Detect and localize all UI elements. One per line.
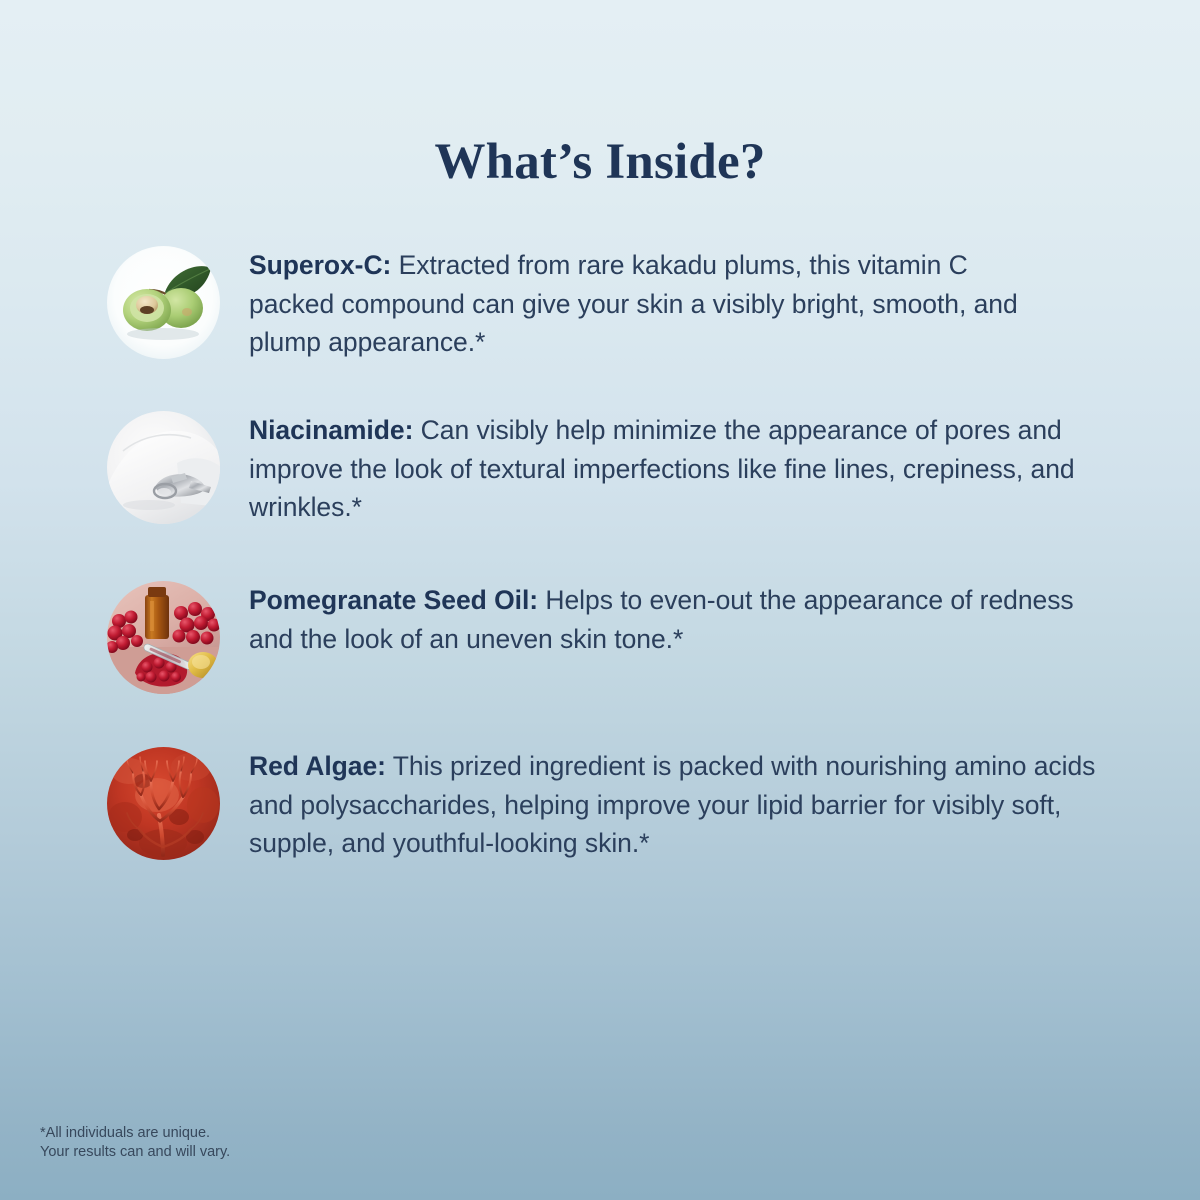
ingredient-text: Niacinamide: Can visibly help minimize t… bbox=[249, 411, 1077, 527]
kakadu-plum-photo bbox=[107, 246, 220, 359]
pomegranate-seed-oil-photo bbox=[107, 581, 220, 694]
ingredient-name: Pomegranate Seed Oil: bbox=[249, 585, 538, 615]
ingredient-text: Red Algae: This prized ingredient is pac… bbox=[249, 747, 1101, 863]
ingredient-text: Superox-C: Extracted from rare kakadu pl… bbox=[249, 246, 1039, 362]
ingredient-text: Pomegranate Seed Oil: Helps to even-out … bbox=[249, 581, 1081, 658]
whats-inside-infographic: What’s Inside? bbox=[0, 0, 1200, 1200]
ingredient-name: Niacinamide: bbox=[249, 415, 413, 445]
red-algae-photo bbox=[107, 747, 220, 860]
footnote-line-1: *All individuals are unique. bbox=[40, 1124, 230, 1143]
ingredient-name: Superox-C: bbox=[249, 250, 391, 280]
page-title: What’s Inside? bbox=[0, 133, 1200, 191]
disclaimer-footnote: *All individuals are unique. Your result… bbox=[40, 1124, 230, 1162]
ingredient-name: Red Algae: bbox=[249, 751, 386, 781]
footnote-line-2: Your results can and will vary. bbox=[40, 1143, 230, 1162]
niacinamide-powder-photo bbox=[107, 411, 220, 524]
